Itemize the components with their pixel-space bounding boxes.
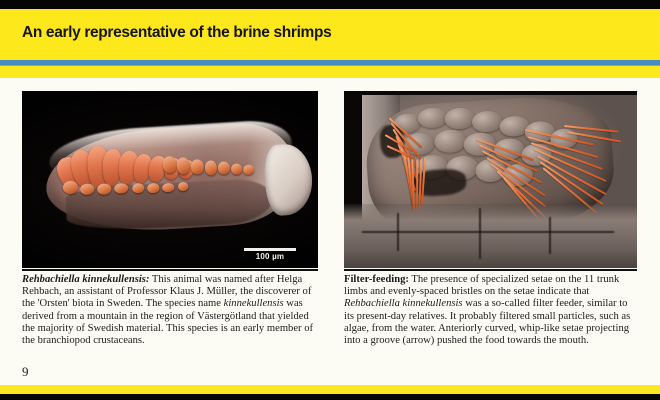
bottom-black-rule bbox=[0, 394, 660, 400]
scale-bar-label: 100 µm bbox=[244, 252, 296, 261]
yellow-sliver bbox=[0, 66, 660, 78]
caption-rule-left bbox=[22, 269, 318, 271]
book-page: An early representative of the brine shr… bbox=[0, 0, 660, 400]
scale-bar-line bbox=[244, 248, 296, 251]
caption-right-lead: Filter-feeding: bbox=[344, 274, 409, 285]
caption-rule-right bbox=[344, 269, 637, 271]
figure-setae-closeup bbox=[344, 91, 637, 268]
figure-fossil-larva: 100 µm bbox=[22, 91, 318, 268]
caption-right-species-name: Rehbachiella kinnekullensis bbox=[344, 298, 463, 309]
page-number: 9 bbox=[22, 364, 29, 380]
top-black-rule bbox=[0, 0, 660, 9]
page-title: An early representative of the brine shr… bbox=[22, 24, 331, 42]
caption-left: Rehbachiella kinnekullensis: This animal… bbox=[22, 274, 319, 347]
bottom-yellow-bar bbox=[0, 385, 660, 394]
caption-left-lead: Rehbachiella kinnekullensis: bbox=[22, 274, 149, 285]
scale-bar: 100 µm bbox=[244, 248, 296, 261]
matrix-rock-foreground bbox=[344, 204, 637, 268]
caption-left-species-epithet: kinnekullensis bbox=[224, 298, 284, 309]
caption-right: Filter-feeding: The presence of speciali… bbox=[344, 274, 639, 347]
